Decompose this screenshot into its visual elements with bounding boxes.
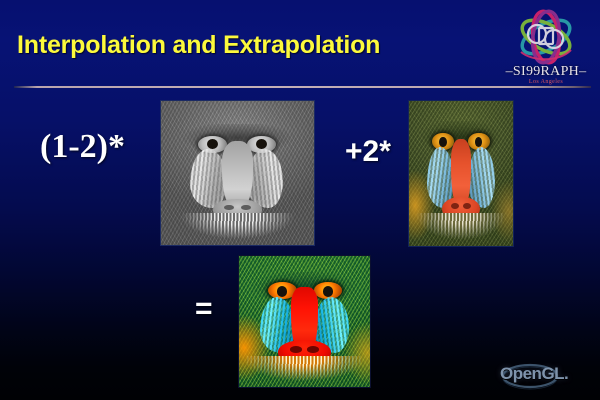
siggraph-location: Los Angeles [497, 79, 595, 85]
siggraph-wordmark: –SI99RAPH– [497, 64, 595, 80]
slide-canvas: Interpolation and Extrapolation –SI99RAP… [0, 0, 600, 400]
siggraph-rings-icon [497, 8, 595, 66]
siggraph-dash-right: – [579, 64, 586, 79]
image-color-mandrill [408, 100, 514, 247]
siggraph-wordmark-text: SI99RAPH [513, 64, 579, 79]
mandrill-color-render [409, 101, 513, 246]
image-saturated-mandrill [238, 255, 371, 388]
mandrill-grayscale-render [161, 101, 314, 245]
page-title: Interpolation and Extrapolation [17, 31, 380, 60]
operator-equals-label: = [195, 292, 213, 326]
siggraph-dash-left: – [506, 64, 513, 79]
coefficient-left-label: (1-2)* [40, 128, 125, 166]
mandrill-saturated-render [239, 256, 370, 387]
opengl-logo: OpenGL. [500, 362, 588, 390]
image-grayscale-mandrill [160, 100, 315, 246]
operator-plus-label: +2* [345, 135, 391, 169]
siggraph-logo: –SI99RAPH– Los Angeles [497, 8, 595, 93]
opengl-wordmark: OpenGL. [500, 364, 588, 384]
